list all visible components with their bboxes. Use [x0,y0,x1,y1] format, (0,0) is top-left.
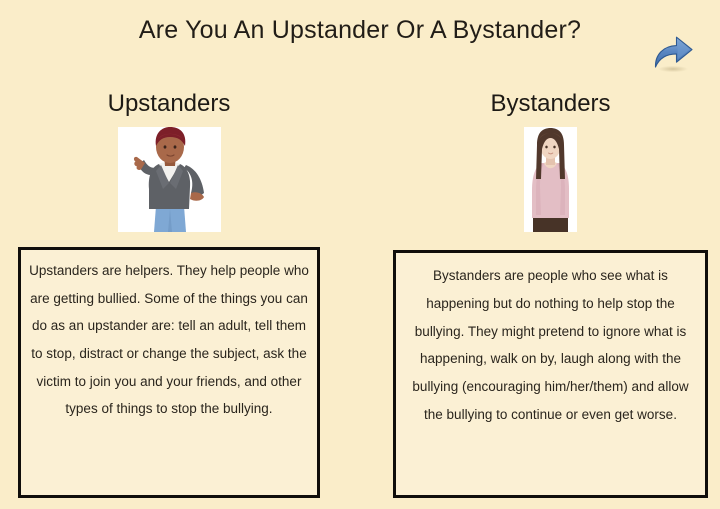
upstander-illustration [118,127,221,232]
bystanders-description-box: Bystanders are people who see what is ha… [393,250,708,498]
bystander-illustration [524,127,577,232]
column-bystanders: Bystanders [393,90,708,232]
column-heading-upstanders: Upstanders [18,90,320,118]
column-heading-bystanders: Bystanders [393,90,708,118]
column-upstanders: Upstanders [18,90,320,232]
page-title: Are You An Upstander Or A Bystander? [0,16,720,45]
upstanders-description-box: Upstanders are helpers. They help people… [18,247,320,498]
bystanders-description-text: Bystanders are people who see what is ha… [396,253,705,429]
upstanders-description-text: Upstanders are helpers. They help people… [21,250,317,423]
share-arrow-icon[interactable] [651,30,695,74]
